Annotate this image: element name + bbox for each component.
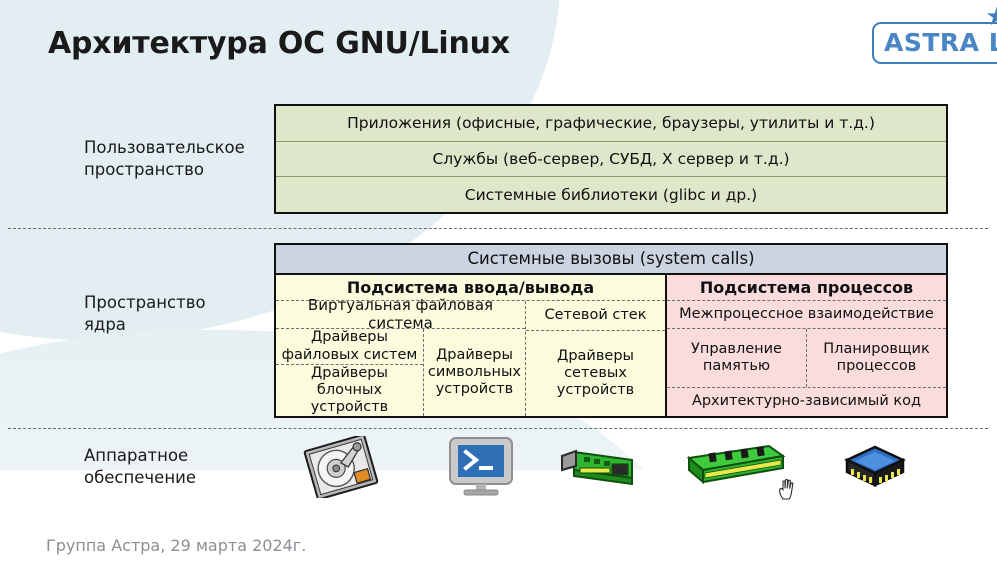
memory-management-cell: Управлениепамятью bbox=[667, 329, 807, 387]
system-calls-bar: Системные вызовы (system calls) bbox=[276, 245, 946, 275]
process-scheduler-cell: Планировщикпроцессов bbox=[807, 329, 946, 387]
zone-label-user-space: Пользовательскоепространство bbox=[84, 137, 264, 182]
io-subsystem: Подсистема ввода/вывода Виртуальная файл… bbox=[276, 275, 667, 416]
network-stack-cell: Сетевой стек bbox=[526, 301, 665, 331]
zone-label-kernel-space: Пространствоядра bbox=[84, 292, 264, 337]
kernel-body: Подсистема ввода/вывода Виртуальная файл… bbox=[276, 275, 946, 416]
astra-linux-logo: ASTRA LIN bbox=[872, 22, 997, 64]
hard-disk-icon bbox=[302, 436, 380, 502]
zone-label-hardware: Аппаратноеобеспечение bbox=[84, 445, 264, 490]
kernel-space-panel: Системные вызовы (system calls) Подсисте… bbox=[274, 243, 948, 418]
ipc-cell: Межпроцессное взаимодействие bbox=[667, 301, 946, 329]
arch-dependent-code-cell: Архитектурно-зависимый код bbox=[667, 388, 946, 416]
process-mid-row: Управлениепамятью Планировщикпроцессов bbox=[667, 329, 946, 388]
io-subsystem-grid: Виртуальная файловая система Драйверыфай… bbox=[276, 301, 665, 416]
memory-module-icon bbox=[683, 444, 787, 496]
process-subsystem-title: Подсистема процессов bbox=[667, 275, 946, 301]
page-title: Архитектура ОС GNU/Linux bbox=[48, 26, 510, 61]
network-drivers-cell: Драйверысетевыхустройств bbox=[526, 331, 665, 416]
terminal-monitor-icon bbox=[447, 436, 515, 502]
slide-canvas: Архитектура ОС GNU/Linux ASTRA LIN ★ Пол… bbox=[0, 0, 997, 576]
divider-user-kernel bbox=[8, 228, 988, 229]
userspace-row-services: Службы (веб-сервер, СУБД, X сервер и т.д… bbox=[276, 142, 946, 178]
network-card-icon bbox=[560, 446, 642, 496]
logo-text: ASTRA LIN bbox=[884, 28, 997, 57]
block-drivers-cell: Драйверы блочныхустройств bbox=[276, 365, 423, 416]
fs-drivers-cell: Драйверыфайловых систем bbox=[276, 329, 423, 364]
user-space-panel: Приложения (офисные, графические, браузе… bbox=[274, 104, 948, 214]
mouse-cursor-hand bbox=[777, 477, 799, 507]
divider-kernel-hardware bbox=[8, 428, 988, 429]
io-left-columns: Виртуальная файловая система Драйверыфай… bbox=[276, 301, 526, 416]
process-subsystem: Подсистема процессов Межпроцессное взаим… bbox=[667, 275, 946, 416]
virtual-file-system-cell: Виртуальная файловая система bbox=[276, 301, 525, 329]
io-network-column: Сетевой стек Драйверысетевыхустройств bbox=[526, 301, 665, 416]
io-driver-columns: Драйверыфайловых систем Драйверы блочных… bbox=[276, 329, 525, 416]
userspace-row-applications: Приложения (офисные, графические, браузе… bbox=[276, 106, 946, 142]
userspace-row-libraries: Системные библиотеки (glibc и др.) bbox=[276, 177, 946, 212]
cpu-chip-icon bbox=[843, 444, 907, 496]
star-icon: ★ bbox=[985, 6, 997, 30]
footer-text: Группа Астра, 29 марта 2024г. bbox=[46, 536, 306, 555]
char-drivers-cell: Драйверысимвольныхустройств bbox=[424, 329, 525, 416]
io-fs-block-column: Драйверыфайловых систем Драйверы блочных… bbox=[276, 329, 424, 416]
